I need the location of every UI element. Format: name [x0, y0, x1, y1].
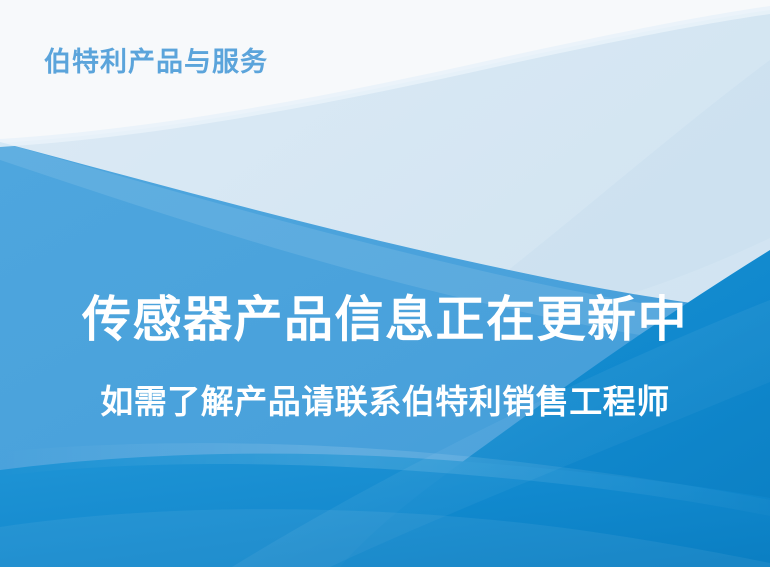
headline-secondary: 如需了解产品请联系伯特利销售工程师: [0, 350, 770, 422]
headline-primary: 传感器产品信息正在更新中: [0, 292, 770, 350]
headline-block: 传感器产品信息正在更新中 如需了解产品请联系伯特利销售工程师: [0, 292, 770, 421]
product-banner: 伯特利产品与服务 传感器产品信息正在更新中 如需了解产品请联系伯特利销售工程师: [0, 0, 770, 567]
page-title: 伯特利产品与服务: [44, 48, 268, 78]
background-wave-art: [0, 0, 770, 567]
